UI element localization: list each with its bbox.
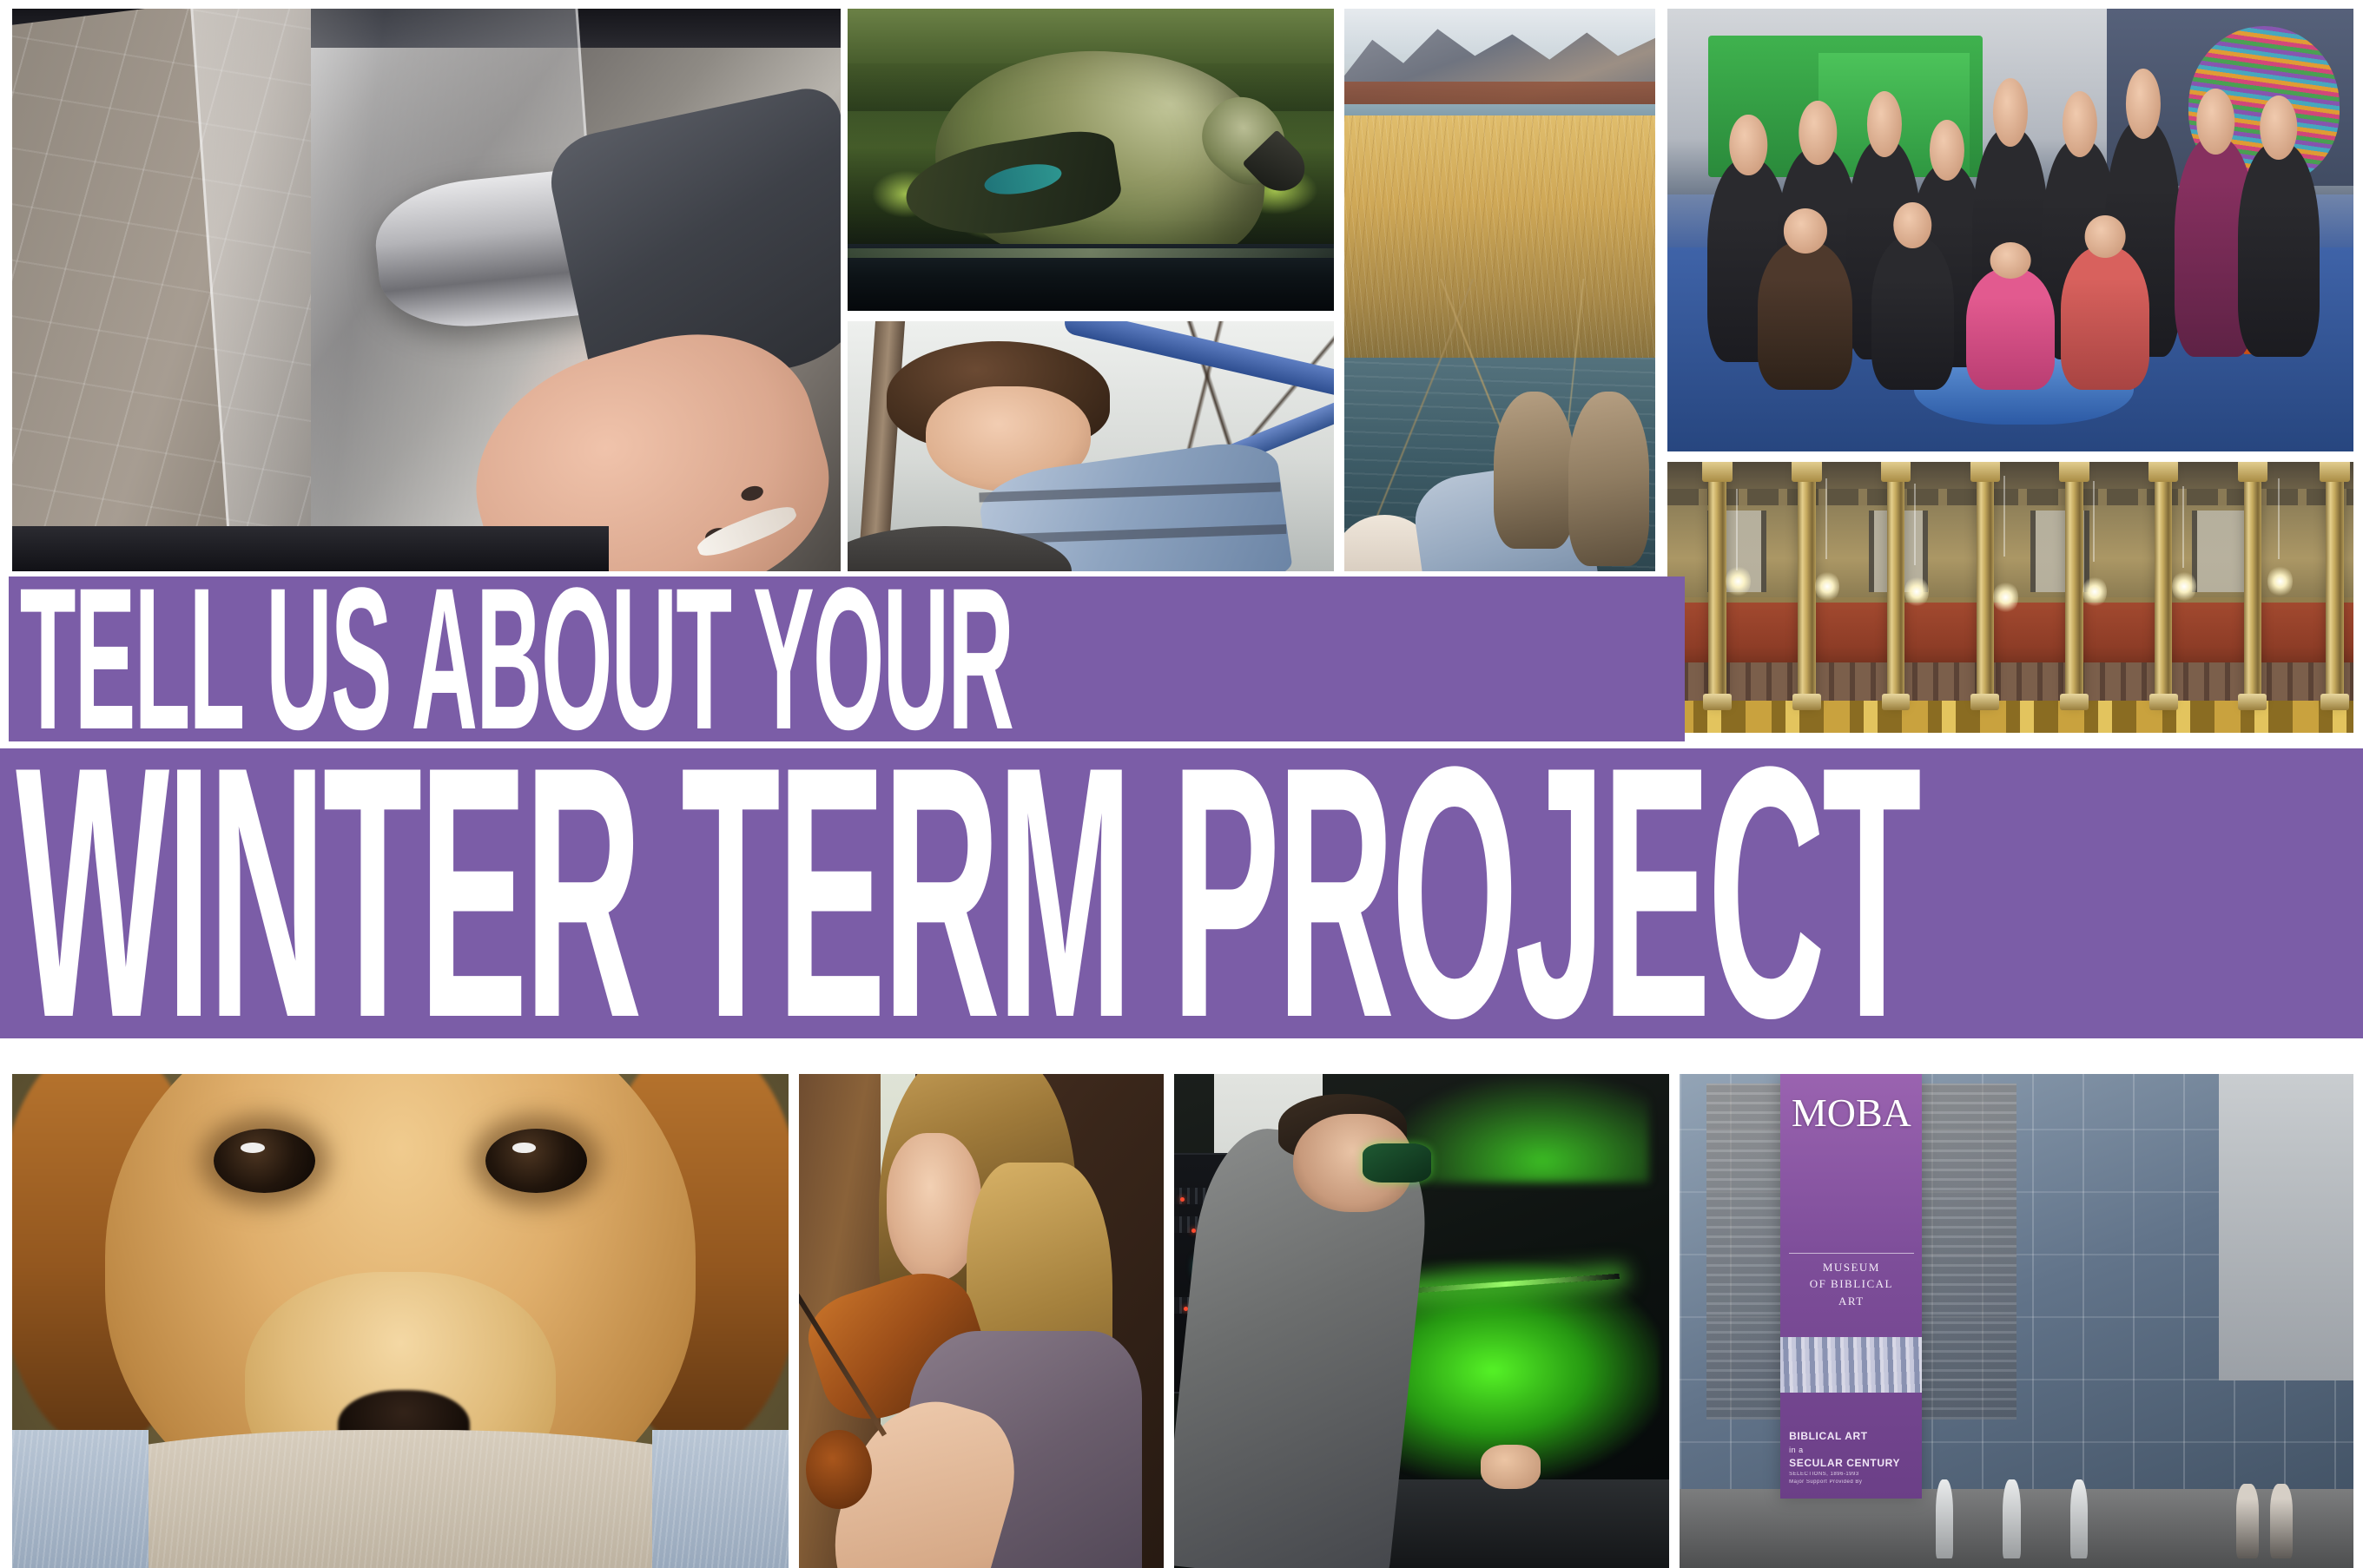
moba-exhibit-line-3: SECULAR CENTURY bbox=[1789, 1456, 1917, 1471]
photo-dog-scene bbox=[12, 1074, 789, 1568]
photo-outdoor-scene bbox=[1344, 9, 1655, 571]
headline-banner-line-2: WINTER TERM PROJECT bbox=[0, 748, 2363, 1038]
photo-boy: Young boy climbing on playground equipme… bbox=[848, 321, 1334, 571]
photo-laser-lab-scene bbox=[1174, 1074, 1669, 1568]
photo-kea-scene bbox=[848, 9, 1334, 311]
photo-concert-hall-scene bbox=[1667, 462, 2353, 733]
moba-exhibit-line-1: BIBLICAL ART bbox=[1789, 1429, 1917, 1444]
moba-exhibit-line-2: in a bbox=[1789, 1445, 1917, 1456]
headline-text-line-1: TELL US ABOUT YOUR bbox=[9, 578, 782, 740]
photo-group-scene bbox=[1667, 9, 2353, 451]
photo-laser-lab: Student in safety goggles adjusting opti… bbox=[1174, 1074, 1669, 1568]
photo-group: SANCA Group of circus-arts students in S… bbox=[1667, 9, 2353, 451]
moba-subtitle-line-3: ART bbox=[1789, 1293, 1913, 1310]
photo-boy-scene bbox=[848, 321, 1334, 571]
moba-subtitle-line-1: MUSEUM bbox=[1789, 1259, 1913, 1276]
photo-concert-hall: Ornate gilded concert-hall balcony with … bbox=[1667, 462, 2353, 733]
photo-violinist-scene bbox=[799, 1074, 1164, 1568]
moba-frieze-image bbox=[1780, 1337, 1922, 1393]
photo-violinist: Student playing the violin bbox=[799, 1074, 1164, 1568]
moba-exhibit-credit: Major Support Provided By bbox=[1789, 1479, 1917, 1486]
photo-dog: Golden retriever close-up holding a plus… bbox=[12, 1074, 789, 1568]
moba-exhibit-block: BIBLICAL ART in a SECULAR CENTURY SELECT… bbox=[1789, 1429, 1917, 1486]
photo-moba-museum: MOBA MUSEUM OF BIBLICAL ART BIBLICAL ART… bbox=[1680, 1074, 2353, 1568]
moba-acronym: MOBA bbox=[1780, 1095, 1922, 1131]
moba-street-banner: MOBA MUSEUM OF BIBLICAL ART BIBLICAL ART… bbox=[1780, 1074, 1922, 1499]
photo-kea: Kea parrot perched on the roof of a car … bbox=[848, 9, 1334, 311]
poster-canvas: Student smiling beside a machine-shop mi… bbox=[0, 0, 2363, 1568]
headline-text-line-2: WINTER TERM PROJECT bbox=[0, 750, 1091, 1037]
photo-robotics-scene bbox=[12, 9, 841, 571]
moba-subtitle-line-2: OF BIBLICAL bbox=[1789, 1275, 1913, 1293]
photo-robotics: Student smiling beside a machine-shop mi… bbox=[12, 9, 841, 571]
moba-exhibit-line-4: SELECTIONS, 1896-1993 bbox=[1789, 1471, 1917, 1479]
moba-subtitle: MUSEUM OF BIBLICAL ART bbox=[1789, 1253, 1913, 1310]
headline-banner-line-1: TELL US ABOUT YOUR bbox=[9, 576, 1685, 741]
photo-outdoor: Hiking boots and jeans resting beside a … bbox=[1344, 9, 1655, 571]
photo-moba-museum-scene: MOBA MUSEUM OF BIBLICAL ART BIBLICAL ART… bbox=[1680, 1074, 2353, 1568]
